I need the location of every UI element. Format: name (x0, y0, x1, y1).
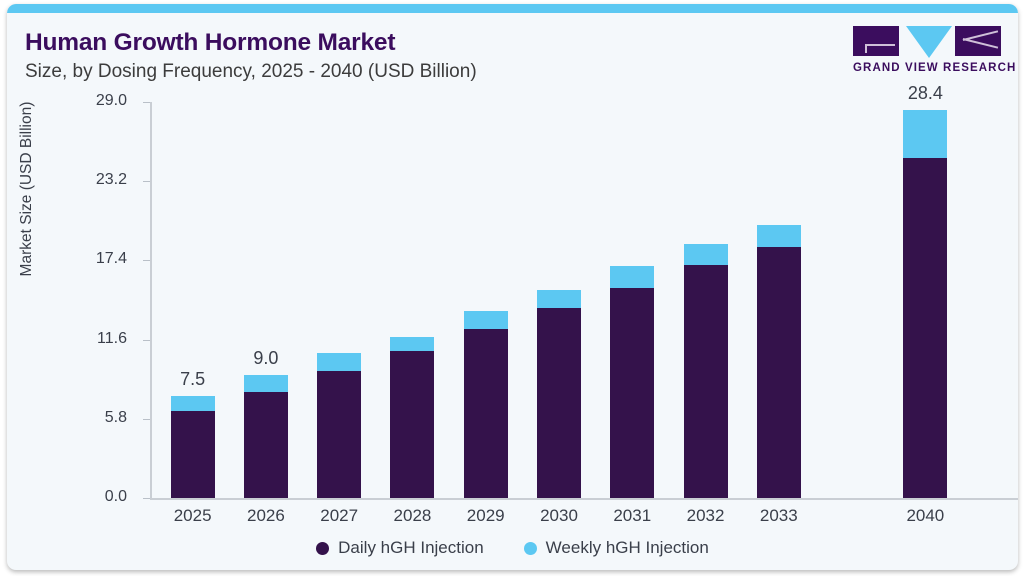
legend-label: Daily hGH Injection (338, 538, 484, 558)
bar-segment-weekly[interactable] (537, 290, 581, 308)
page-subtitle: Size, by Dosing Frequency, 2025 - 2040 (… (25, 61, 477, 83)
plot-area: 7.59.028.4 20252026202720282029203020312… (150, 102, 956, 498)
x-axis-line (150, 498, 1018, 500)
bar-segment-weekly[interactable] (390, 337, 434, 351)
bar-value-label: 9.0 (206, 348, 326, 369)
legend-swatch-icon (316, 542, 329, 555)
bar-segment-weekly[interactable] (464, 311, 508, 329)
logo-text: GRAND VIEW RESEARCH (853, 62, 1009, 74)
bar-segment-weekly[interactable] (171, 396, 215, 411)
logo-v-triangle-icon (906, 26, 952, 58)
bar-2030[interactable] (537, 290, 581, 498)
bar-segment-daily[interactable] (317, 371, 361, 498)
bar-segment-daily[interactable] (684, 265, 728, 499)
bar-2026[interactable]: 9.0 (244, 375, 288, 498)
legend-item-weekly[interactable]: Weekly hGH Injection (524, 538, 709, 558)
bar-2027[interactable] (317, 353, 361, 498)
y-axis-tick (143, 181, 150, 182)
bar-2025[interactable]: 7.5 (171, 396, 215, 498)
legend-swatch-icon (524, 542, 537, 555)
bar-2040[interactable]: 28.4 (903, 110, 947, 498)
y-axis-tick (143, 102, 150, 103)
y-axis-tick-label: 0.0 (7, 488, 127, 506)
bar-2032[interactable] (684, 244, 728, 498)
bar-segment-weekly[interactable] (903, 110, 947, 158)
bar-segment-daily[interactable] (903, 158, 947, 498)
bar-2028[interactable] (390, 337, 434, 498)
y-axis-tick (143, 419, 150, 420)
bar-segment-weekly[interactable] (757, 225, 801, 247)
bar-2033[interactable] (757, 225, 801, 498)
bar-segment-daily[interactable] (464, 329, 508, 498)
y-axis-tick (143, 260, 150, 261)
bar-2029[interactable] (464, 311, 508, 498)
accent-top-bar (7, 4, 1018, 13)
y-axis-line (150, 102, 152, 498)
logo-g-block-icon (853, 26, 899, 56)
legend-label: Weekly hGH Injection (546, 538, 709, 558)
bar-segment-daily[interactable] (537, 308, 581, 498)
x-axis-tick-label: 2040 (865, 506, 985, 526)
x-axis-tick-label: 2033 (719, 506, 839, 526)
y-axis-tick-label: 5.8 (7, 409, 127, 427)
bar-segment-daily[interactable] (244, 392, 288, 499)
bar-segment-weekly[interactable] (610, 266, 654, 288)
bar-segment-weekly[interactable] (684, 244, 728, 264)
page-title: Human Growth Hormone Market (25, 29, 395, 57)
y-axis-tick (143, 498, 150, 499)
legend-item-daily[interactable]: Daily hGH Injection (316, 538, 484, 558)
bar-value-label: 7.5 (133, 369, 253, 390)
bar-2031[interactable] (610, 266, 654, 498)
bar-segment-weekly[interactable] (244, 375, 288, 391)
bar-segment-daily[interactable] (757, 247, 801, 498)
bar-value-label: 28.4 (865, 83, 985, 104)
chart-card: Human Growth Hormone Market Size, by Dos… (7, 4, 1018, 570)
chart-legend: Daily hGH InjectionWeekly hGH Injection (7, 538, 1018, 558)
y-axis-tick (143, 340, 150, 341)
bar-segment-weekly[interactable] (317, 353, 361, 371)
bar-segment-daily[interactable] (171, 411, 215, 498)
grand-view-research-logo: GRAND VIEW RESEARCH (853, 26, 1009, 78)
logo-r-block-icon (955, 26, 1001, 56)
y-axis-title: Market Size (USD Billion) (18, 39, 36, 339)
bar-segment-daily[interactable] (610, 288, 654, 498)
bar-segment-daily[interactable] (390, 351, 434, 498)
